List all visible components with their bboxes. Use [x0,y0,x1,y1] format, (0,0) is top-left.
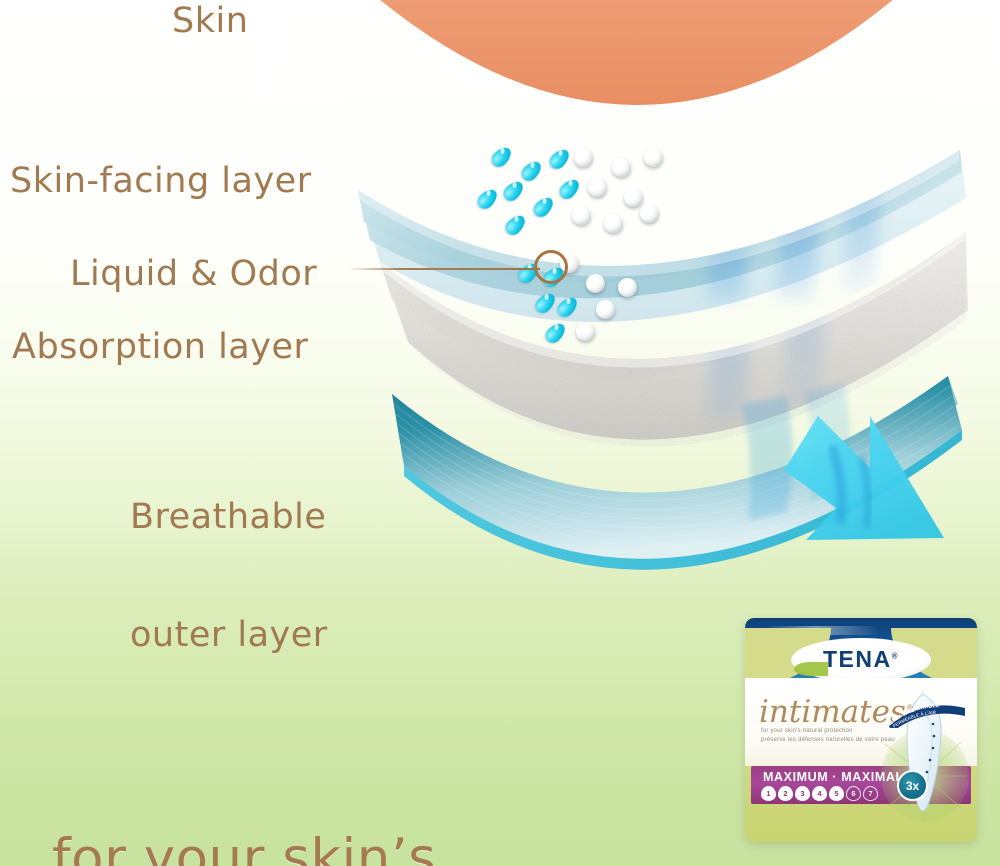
tena-trademark-icon: ® [892,651,899,660]
skin-layer [250,0,1000,105]
label-skin: Skin [172,2,248,41]
odor-molecule-icon [576,322,595,341]
absorbency-drop-5: 5 [829,786,844,801]
label-breathable-line1: Breathable [130,498,328,537]
tena-brand-text: TENA [823,646,892,672]
intimates-text: intimates [759,694,906,730]
badge-3x: 3x [897,770,928,801]
odor-molecule-icon [618,278,637,297]
odor-molecule-icon [644,148,663,167]
odor-molecule-icon [604,214,623,233]
absorbency-scale: 1234567 [761,786,878,801]
label-skin-facing-layer: Skin-facing layer [10,162,312,201]
odor-molecule-icon [586,274,605,293]
tena-brand-logo: TENA® [791,646,931,673]
absorbency-drop-7: 7 [863,786,878,801]
odor-molecule-icon [574,148,593,167]
headline-line1: for your skin’s [52,824,538,866]
odor-molecule-icon [612,158,631,177]
label-breathable-line2: outer layer [130,616,328,655]
infographic-canvas: Skin Skin-facing layer Liquid & Odor Abs… [0,0,1000,866]
breathable-banner: 100% BREATHABLE PERMÉABLE À L'AIR [889,702,965,728]
headline: for your skin’s natural protection [52,684,538,866]
product-package[interactable]: TENA® intimates® for your skin's natural… [745,618,977,842]
absorbency-drop-2: 2 [778,786,793,801]
skin-facing-layer [358,100,966,322]
absorbency-drop-1: 1 [761,786,776,801]
magnify-callout-icon [534,250,568,284]
package-tagline-en: for your skin's natural protection [761,728,853,734]
absorbency-drop-3: 3 [795,786,810,801]
package-tagline-fr: préserve les défenses naturelles de votr… [761,737,895,743]
odor-molecule-icon [624,188,643,207]
odor-molecule-icon [596,300,615,319]
odor-molecule-icon [572,206,591,225]
liquid-odor-leader-line [348,268,540,270]
label-liquid-and-odor: Liquid & Odor [70,255,317,294]
odor-molecule-icon [640,204,659,223]
absorbency-label: MAXIMUM · MAXIMALE [763,770,913,784]
absorbency-drop-6: 6 [846,786,861,801]
absorbency-drop-4: 4 [812,786,827,801]
odor-molecule-icon [588,178,607,197]
label-absorption-layer: Absorption layer [12,328,308,367]
